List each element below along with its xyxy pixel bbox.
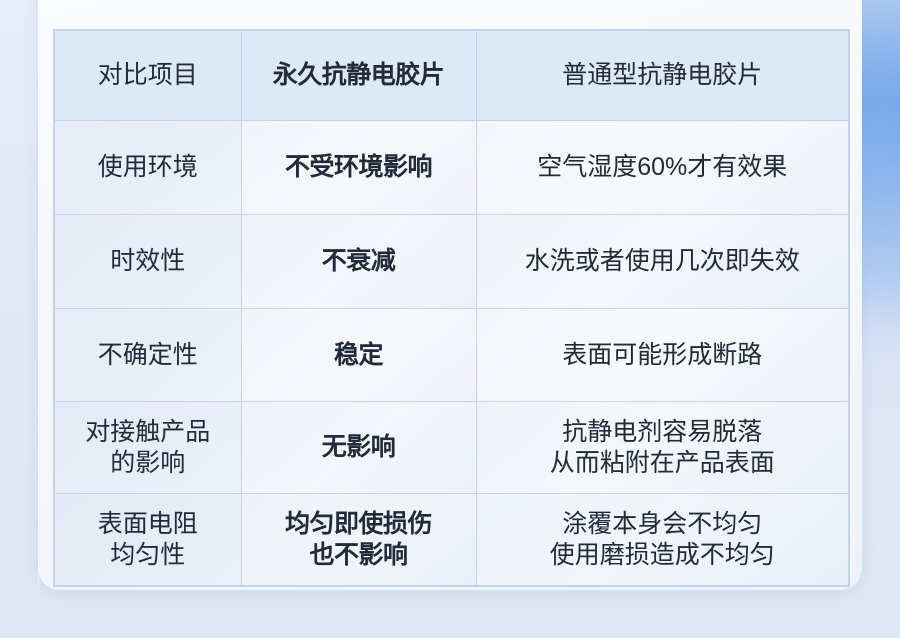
cell-text-line: 使用磨损造成不均匀 — [483, 540, 843, 571]
comparison-table-container: 对比项目 永久抗静电胶片 普通型抗静电胶片 使用环境 不受环境影响 空气湿度60… — [53, 29, 848, 530]
table-row: 对接触产品的影响 无影响 抗静电剂容易脱落从而粘附在产品表面 — [54, 402, 849, 494]
row-label: 对接触产品的影响 — [54, 402, 241, 494]
cell-text-line: 均匀性 — [61, 540, 235, 571]
table-row: 使用环境 不受环境影响 空气湿度60%才有效果 — [54, 121, 849, 215]
cell-text-line: 无影响 — [248, 432, 470, 463]
cell-text-line: 均匀即使损伤 — [248, 509, 470, 540]
cell-ordinary: 空气湿度60%才有效果 — [476, 121, 849, 215]
table-header-row: 对比项目 永久抗静电胶片 普通型抗静电胶片 — [54, 30, 849, 121]
cell-ordinary: 抗静电剂容易脱落从而粘附在产品表面 — [476, 402, 849, 494]
row-label: 使用环境 — [54, 121, 241, 215]
cell-text-line: 抗静电剂容易脱落 — [483, 417, 843, 448]
cell-text-line: 的影响 — [61, 448, 235, 479]
row-label: 不确定性 — [54, 309, 241, 402]
row-label: 表面电阻均匀性 — [54, 494, 241, 587]
cell-ordinary: 水洗或者使用几次即失效 — [476, 215, 849, 309]
cell-text-line: 也不影响 — [248, 540, 470, 571]
cell-text-line: 从而粘附在产品表面 — [483, 448, 843, 479]
cell-text-line: 表面电阻 — [61, 509, 235, 540]
cell-permanent: 稳定 — [241, 309, 476, 402]
comparison-table: 对比项目 永久抗静电胶片 普通型抗静电胶片 使用环境 不受环境影响 空气湿度60… — [53, 29, 850, 587]
cell-ordinary: 涂覆本身会不均匀使用磨损造成不均匀 — [476, 494, 849, 587]
table-row: 时效性 不衰减 水洗或者使用几次即失效 — [54, 215, 849, 309]
cell-permanent: 不衰减 — [241, 215, 476, 309]
cell-text-line: 涂覆本身会不均匀 — [483, 509, 843, 540]
table-row: 不确定性 稳定 表面可能形成断路 — [54, 309, 849, 402]
column-header-permanent: 永久抗静电胶片 — [241, 30, 476, 121]
cell-text-line: 对接触产品 — [61, 417, 235, 448]
row-label: 时效性 — [54, 215, 241, 309]
table-row: 表面电阻均匀性 均匀即使损伤也不影响 涂覆本身会不均匀使用磨损造成不均匀 — [54, 494, 849, 587]
column-header-item: 对比项目 — [54, 30, 241, 121]
cell-permanent: 均匀即使损伤也不影响 — [241, 494, 476, 587]
cell-permanent: 无影响 — [241, 402, 476, 494]
column-header-ordinary: 普通型抗静电胶片 — [476, 30, 849, 121]
cell-permanent: 不受环境影响 — [241, 121, 476, 215]
card-left-edge — [38, 0, 39, 590]
cell-ordinary: 表面可能形成断路 — [476, 309, 849, 402]
